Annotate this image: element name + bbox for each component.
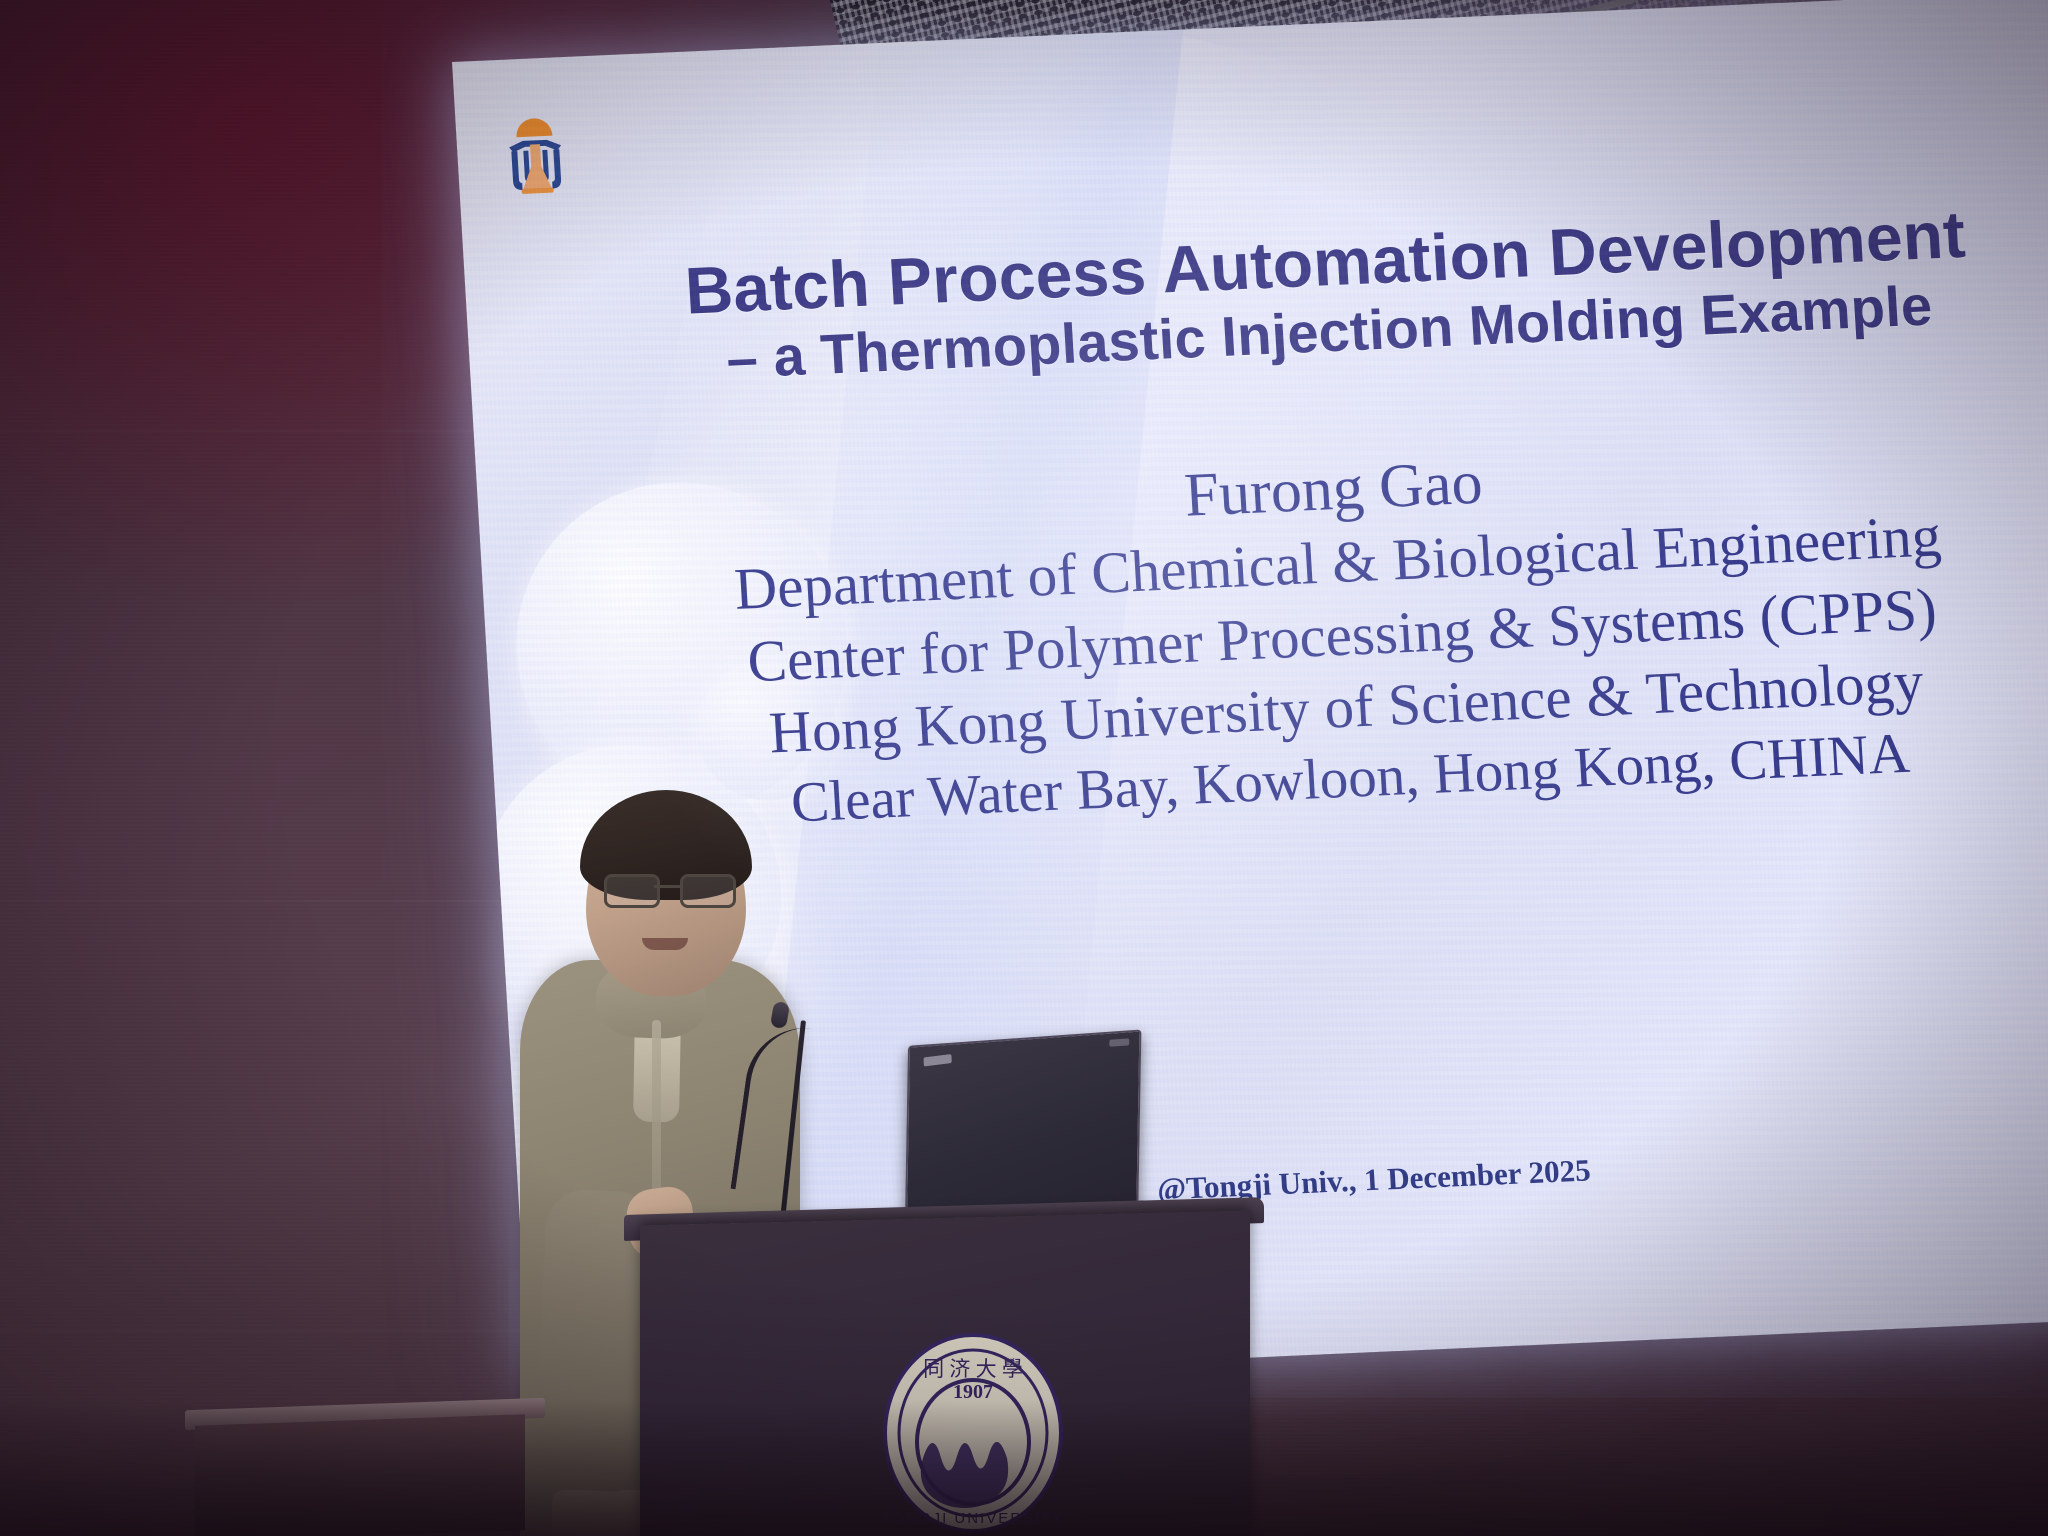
glasses-bridge (654, 885, 680, 888)
glasses-lens-left (604, 874, 660, 908)
presenter-mouth (642, 938, 688, 950)
laptop-logo (1109, 1038, 1129, 1046)
laptop-sticker (924, 1054, 952, 1066)
presentation-photo: Batch Process Automation Development – a… (0, 0, 2048, 1536)
wall-seam (0, 430, 2048, 432)
floor-shadow (0, 1400, 2048, 1536)
presenter-glasses (604, 874, 736, 904)
svg-text:同 济 大 學: 同 济 大 學 (923, 1357, 1023, 1381)
wall-seam (0, 900, 2048, 902)
glasses-lens-right (680, 874, 736, 908)
